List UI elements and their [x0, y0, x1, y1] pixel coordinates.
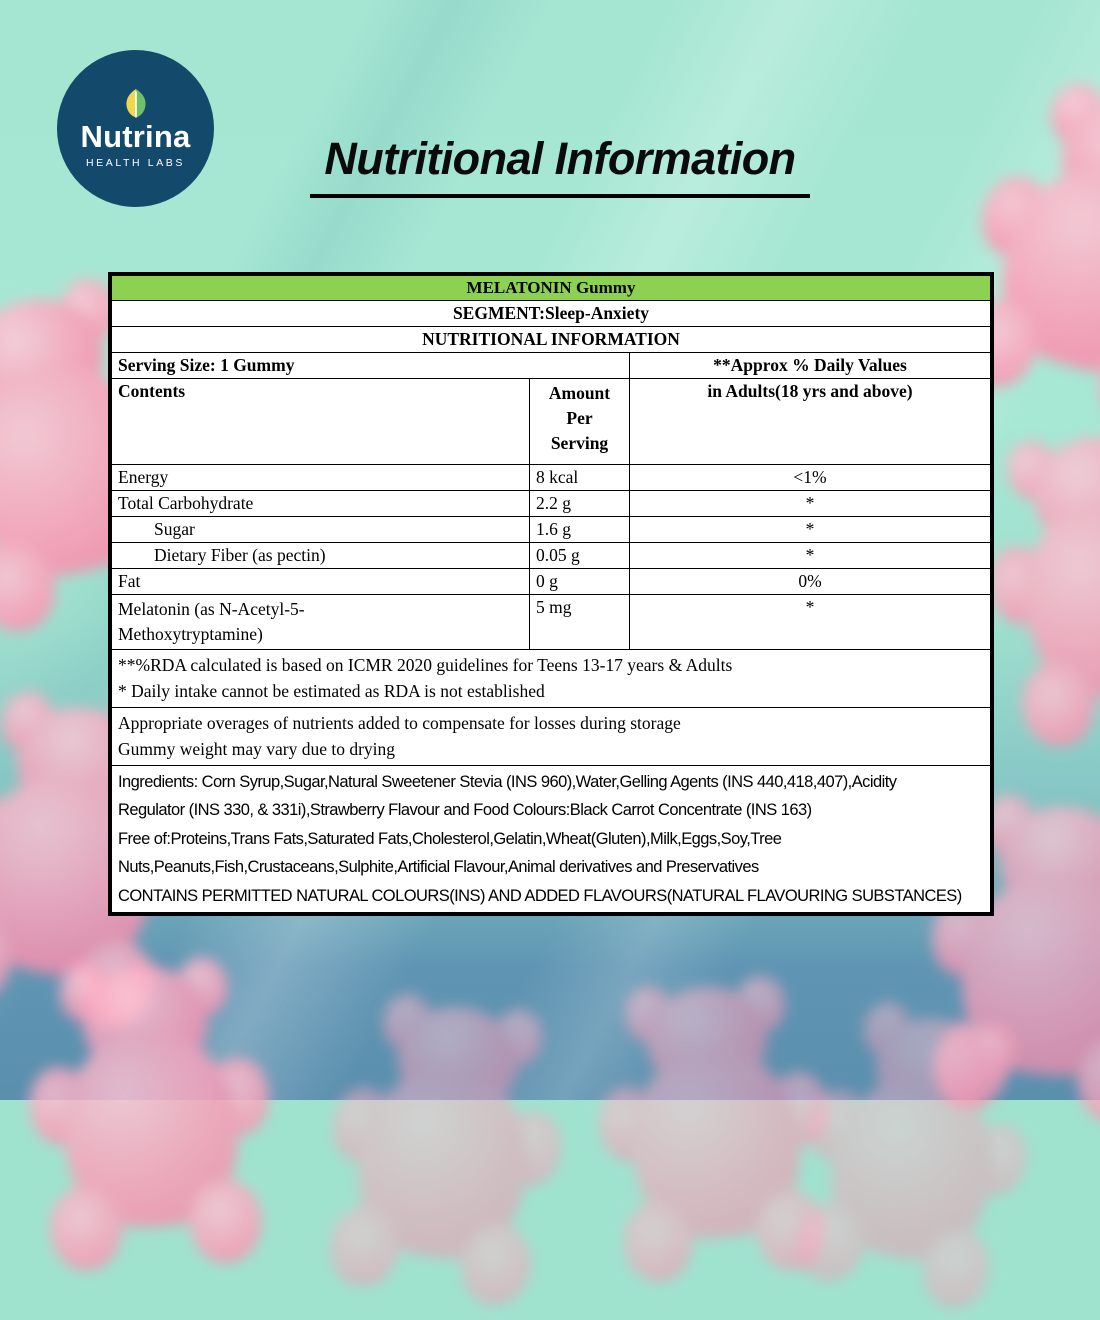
segment-text: SEGMENT:Sleep-Anxiety	[112, 301, 991, 327]
nutrient-amount: 8 kcal	[530, 465, 630, 491]
footnote-rda: **%RDA calculated is based on ICMR 2020 …	[118, 652, 984, 679]
nutrient-amount: 1.6 g	[530, 517, 630, 543]
nutrient-daily-value: *	[630, 491, 991, 517]
ingredients-line: Regulator (INS 330, & 331i),Strawberry F…	[118, 796, 984, 824]
amount-header-line-2: Per	[566, 408, 592, 428]
melatonin-daily-value: *	[630, 595, 991, 650]
ingredients-section: Ingredients: Corn Syrup,Sugar,Natural Sw…	[112, 766, 991, 913]
product-title: MELATONIN Gummy	[112, 276, 991, 301]
storage-notes: Appropriate overages of nutrients added …	[112, 707, 991, 765]
nutrition-label-panel: MELATONIN Gummy SEGMENT:Sleep-Anxiety NU…	[108, 272, 994, 916]
storage-note-overages: Appropriate overages of nutrients added …	[118, 710, 984, 737]
permitted-colours-line: CONTAINS PERMITTED NATURAL COLOURS(INS) …	[118, 882, 984, 910]
brand-tagline: HEALTH LABS	[86, 158, 185, 169]
column-header-adults: in Adults(18 yrs and above)	[630, 379, 991, 465]
nutrition-table: MELATONIN Gummy SEGMENT:Sleep-Anxiety NU…	[111, 275, 991, 913]
table-row: Fat 0 g 0%	[112, 569, 991, 595]
daily-values-heading: **Approx % Daily Values	[630, 353, 991, 379]
nutrient-name: Dietary Fiber (as pectin)	[112, 543, 530, 569]
page-title: Nutritional Information	[310, 133, 810, 185]
nutrient-name: Energy	[112, 465, 530, 491]
storage-note-weight: Gummy weight may vary due to drying	[118, 736, 984, 763]
melatonin-name: Melatonin (as N-Acetyl-5- Methoxytryptam…	[112, 595, 530, 650]
ingredients-line: Ingredients: Corn Syrup,Sugar,Natural Sw…	[118, 768, 984, 796]
table-row-footnotes: **%RDA calculated is based on ICMR 2020 …	[112, 649, 991, 707]
nutrient-amount: 2.2 g	[530, 491, 630, 517]
nutrient-amount: 0 g	[530, 569, 630, 595]
table-row-ingredients: Ingredients: Corn Syrup,Sugar,Natural Sw…	[112, 766, 991, 913]
column-header-contents: Contents	[112, 379, 530, 465]
nutrient-amount: 0.05 g	[530, 543, 630, 569]
nutrient-daily-value: 0%	[630, 569, 991, 595]
brand-name: Nutrina	[81, 121, 191, 152]
table-row-storage-notes: Appropriate overages of nutrients added …	[112, 707, 991, 765]
nutrient-daily-value: <1%	[630, 465, 991, 491]
section-heading: NUTRITIONAL INFORMATION	[112, 327, 991, 353]
leaf-icon	[123, 88, 149, 118]
footnote-asterisk: * Daily intake cannot be estimated as RD…	[118, 678, 984, 705]
table-row: Dietary Fiber (as pectin) 0.05 g *	[112, 543, 991, 569]
table-row-segment: SEGMENT:Sleep-Anxiety	[112, 301, 991, 327]
nutrient-daily-value: *	[630, 543, 991, 569]
serving-size: Serving Size: 1 Gummy	[112, 353, 630, 379]
brand-logo: Nutrina HEALTH LABS	[57, 50, 214, 207]
title-underline	[310, 194, 810, 198]
table-row-section-heading: NUTRITIONAL INFORMATION	[112, 327, 991, 353]
table-row: Energy 8 kcal <1%	[112, 465, 991, 491]
page-title-group: Nutritional Information	[310, 133, 810, 198]
free-of-line: Free of:Proteins,Trans Fats,Saturated Fa…	[118, 825, 984, 853]
melatonin-name-line-1: Melatonin (as N-Acetyl-5-	[118, 599, 305, 619]
melatonin-amount: 5 mg	[530, 595, 630, 650]
table-row: Sugar 1.6 g *	[112, 517, 991, 543]
table-row: Total Carbohydrate 2.2 g *	[112, 491, 991, 517]
nutrient-daily-value: *	[630, 517, 991, 543]
free-of-line: Nuts,Peanuts,Fish,Crustaceans,Sulphite,A…	[118, 853, 984, 881]
amount-header-line-1: Amount	[549, 383, 610, 403]
nutrient-name: Sugar	[112, 517, 530, 543]
footnotes: **%RDA calculated is based on ICMR 2020 …	[112, 649, 991, 707]
amount-header-line-3: Serving	[551, 433, 608, 453]
table-row-melatonin: Melatonin (as N-Acetyl-5- Methoxytryptam…	[112, 595, 991, 650]
table-row-serving: Serving Size: 1 Gummy **Approx % Daily V…	[112, 353, 991, 379]
melatonin-name-line-2: Methoxytryptamine)	[118, 624, 263, 644]
table-row-product-title: MELATONIN Gummy	[112, 276, 991, 301]
nutrient-name: Fat	[112, 569, 530, 595]
nutrient-name: Total Carbohydrate	[112, 491, 530, 517]
column-header-amount-per-serving: Amount Per Serving	[530, 379, 630, 465]
table-row-column-headers: Contents Amount Per Serving in Adults(18…	[112, 379, 991, 465]
